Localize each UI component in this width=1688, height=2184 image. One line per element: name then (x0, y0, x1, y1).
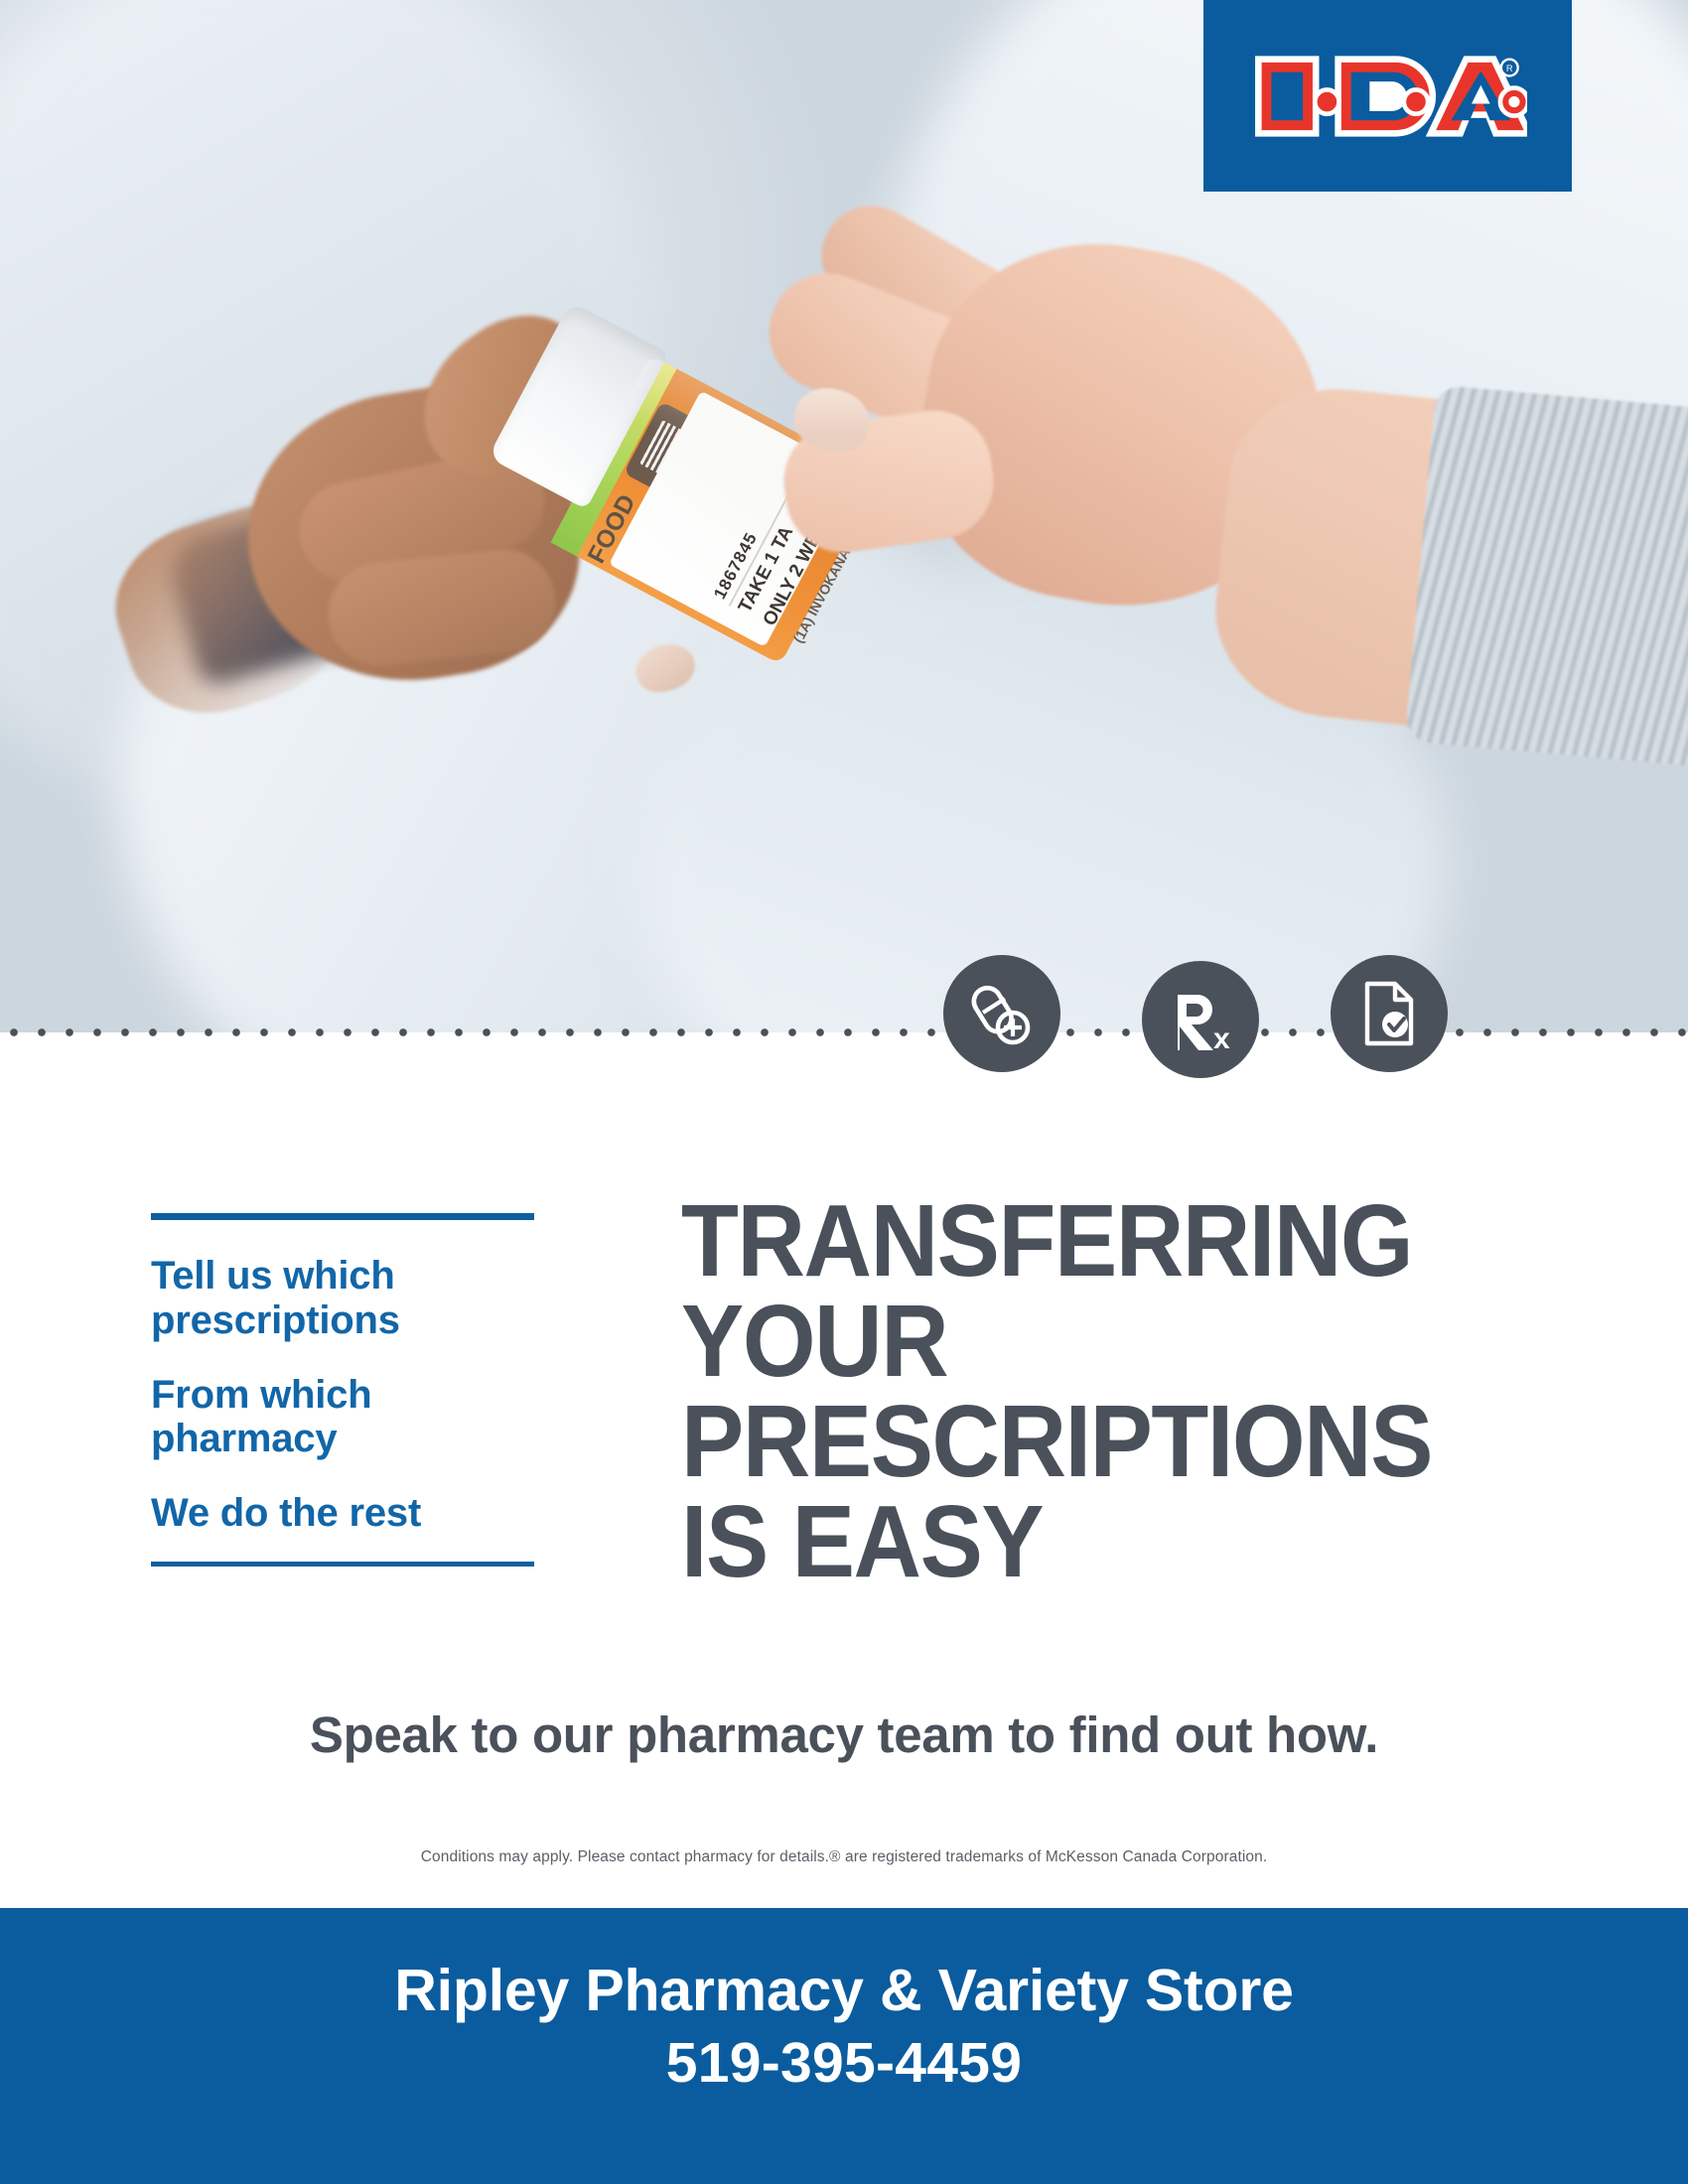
step-item-2: From which pharmacy (151, 1373, 534, 1462)
call-to-action-text: Speak to our pharmacy team to find out h… (0, 1706, 1688, 1764)
document-check-icon (1331, 955, 1448, 1072)
steps-items: Tell us which prescriptions From which p… (151, 1220, 534, 1536)
store-phone[interactable]: 519-395-4459 (666, 2029, 1023, 2097)
steps-bottom-rule (151, 1562, 534, 1567)
legal-fineprint: Conditions may apply. Please contact pha… (0, 1848, 1688, 1866)
svg-text:R: R (1505, 63, 1512, 72)
ida-logo: R (1203, 0, 1572, 192)
headline-line-3: PRESCRIPTIONS (681, 1392, 1540, 1492)
svg-text:x: x (1213, 1023, 1230, 1052)
poster: 1867845 TAKE 1 TA ONLY 2 WEEKS (1A) INVO… (0, 0, 1688, 2184)
hero-photo: 1867845 TAKE 1 TA ONLY 2 WEEKS (1A) INVO… (0, 0, 1688, 1032)
icon-row: x (933, 943, 1380, 1102)
ida-logo-mark: R (1249, 42, 1527, 151)
page-title: TRANSFERRING YOUR PRESCRIPTIONS IS EASY (681, 1191, 1540, 1592)
steps-list: Tell us which prescriptions From which p… (151, 1213, 534, 1567)
headline-line-4: IS EASY (681, 1492, 1540, 1592)
pills-plus-icon (943, 955, 1060, 1072)
headline-line-2: YOUR (681, 1292, 1540, 1392)
footer-bar: Ripley Pharmacy & Variety Store 519-395-… (0, 1908, 1688, 2184)
steps-top-rule (151, 1213, 534, 1220)
step-item-1: Tell us which prescriptions (151, 1254, 534, 1343)
rx-icon: x (1142, 961, 1259, 1078)
step-item-3: We do the rest (151, 1491, 534, 1536)
headline-line-1: TRANSFERRING (681, 1191, 1540, 1292)
knit-sweater-sleeve (1405, 385, 1688, 767)
store-name: Ripley Pharmacy & Variety Store (394, 1958, 1293, 2023)
